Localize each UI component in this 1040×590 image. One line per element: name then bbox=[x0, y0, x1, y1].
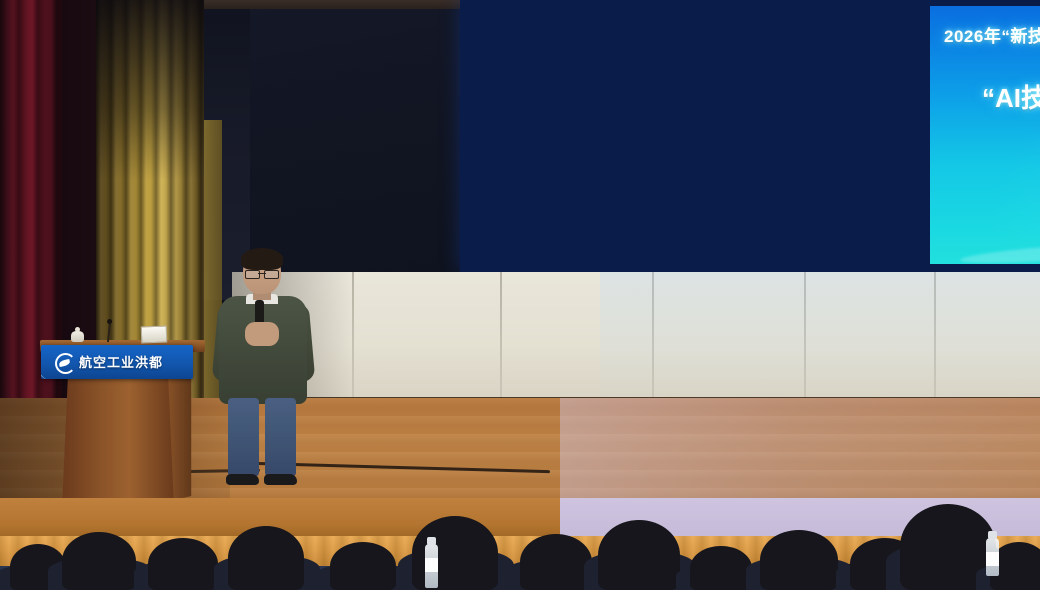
speaker-hands bbox=[245, 322, 279, 346]
slide-eyebrow: 2026年“新技术大讲堂”之 bbox=[944, 22, 1040, 47]
stage-curtain-gold-shadow bbox=[96, 0, 204, 180]
audience-member-head bbox=[520, 534, 592, 590]
projection-screen: 2026年“新技术大讲堂”之 “AI技术在科研生产及管理工作中的运用” 学术报告… bbox=[930, 6, 1040, 264]
glasses-icon bbox=[245, 270, 279, 277]
audience-member-head bbox=[330, 542, 396, 590]
audience-member-head bbox=[690, 546, 752, 590]
audience-member-head bbox=[760, 530, 838, 590]
speaker-legs bbox=[228, 398, 298, 480]
panel-seam bbox=[500, 272, 502, 404]
bottle-label bbox=[425, 558, 438, 572]
bottle-cap bbox=[988, 531, 997, 539]
podium-banner-text: 航空工业洪都 bbox=[79, 352, 163, 371]
wall-light-glow bbox=[600, 272, 1040, 404]
water-bottle bbox=[986, 538, 999, 576]
bottle-label bbox=[986, 552, 999, 566]
podium-name-card bbox=[141, 326, 168, 344]
podium-cup bbox=[71, 331, 84, 342]
speaker-shoe bbox=[226, 474, 259, 485]
photo-scene: 2026年“新技术大讲堂”之 “AI技术在科研生产及管理工作中的运用” 学术报告… bbox=[0, 0, 1040, 590]
projection-screen-bezel: 2026年“新技术大讲堂”之 “AI技术在科研生产及管理工作中的运用” 学术报告… bbox=[460, 0, 1040, 272]
water-bottle bbox=[425, 544, 438, 588]
audience-member-head bbox=[148, 538, 218, 590]
podium-banner: 航空工业洪都 bbox=[41, 345, 193, 379]
speaker-hair bbox=[241, 248, 283, 270]
glasses-left-lens bbox=[245, 270, 260, 279]
audience-member-head bbox=[598, 520, 680, 590]
glasses-right-lens bbox=[264, 270, 279, 279]
audience-member-head bbox=[228, 526, 304, 590]
slide-title: “AI技术在科研生产及管理工作中的运用” bbox=[982, 78, 1040, 115]
panel-seam bbox=[352, 272, 354, 404]
audience-member-head bbox=[62, 532, 136, 590]
hongdu-aviation-logo-icon bbox=[55, 353, 76, 374]
speaker-leg bbox=[265, 398, 296, 476]
bottle-cap bbox=[427, 537, 436, 545]
podium-body bbox=[62, 358, 174, 508]
speaker-leg bbox=[228, 398, 259, 476]
speaker-shoe bbox=[264, 474, 297, 485]
glasses-bridge bbox=[258, 273, 266, 274]
